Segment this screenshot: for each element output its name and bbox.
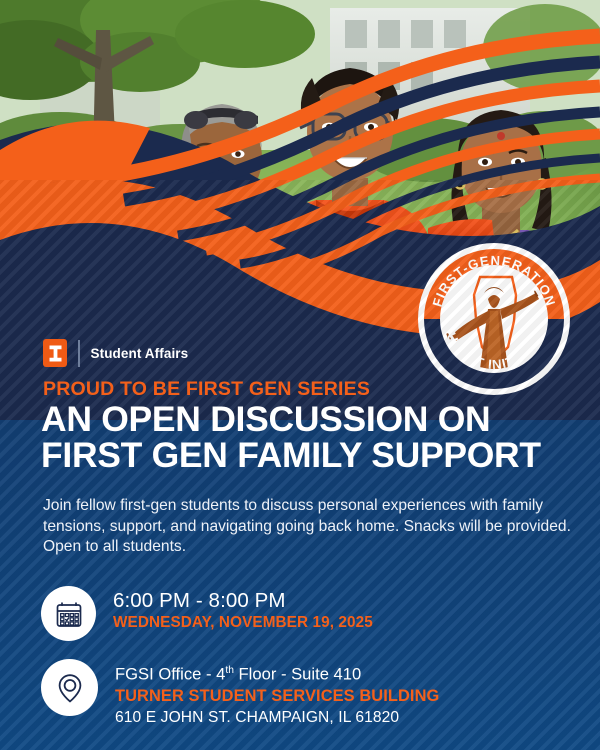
venue-building: TURNER STUDENT SERVICES BUILDING (115, 686, 439, 707)
location-text: FGSI Office - 4th Floor - Suite 410 TURN… (115, 659, 439, 728)
venue-address: 610 E JOHN ST. CHAMPAIGN, IL 61820 (115, 707, 439, 728)
location-row: FGSI Office - 4th Floor - Suite 410 TURN… (41, 659, 439, 728)
unit-name: Student Affairs (91, 346, 189, 361)
content-layer: Student Affairs PROUD TO BE FIRST GEN SE… (0, 0, 600, 750)
venue-room-suffix: Floor - Suite 410 (234, 665, 361, 684)
map-pin-icon (41, 659, 98, 716)
calendar-icon (41, 586, 96, 641)
unit-mark-divider (78, 340, 80, 367)
flyer-poster: ILLINOIS (0, 0, 600, 750)
headline-line-2: FIRST GEN FAMILY SUPPORT (41, 437, 571, 473)
venue-room-ordinal: th (225, 665, 234, 676)
venue-room-prefix: FGSI Office - 4 (115, 665, 225, 684)
unit-mark: Student Affairs (43, 339, 188, 367)
venue-room: FGSI Office - 4th Floor - Suite 410 (115, 660, 439, 686)
date-time-text: 6:00 PM - 8:00 PM WEDNESDAY, NOVEMBER 19… (113, 586, 373, 633)
event-time: 6:00 PM - 8:00 PM (113, 588, 373, 613)
series-eyebrow: PROUD TO BE FIRST GEN SERIES (43, 378, 370, 401)
date-time-row: 6:00 PM - 8:00 PM WEDNESDAY, NOVEMBER 19… (41, 586, 373, 641)
event-date: WEDNESDAY, NOVEMBER 19, 2025 (113, 613, 373, 633)
illinois-block-i-icon (43, 339, 67, 367)
headline-line-1: AN OPEN DISCUSSION ON (41, 401, 571, 437)
page-title: AN OPEN DISCUSSION ON FIRST GEN FAMILY S… (41, 401, 571, 473)
description-text: Join fellow first-gen students to discus… (43, 496, 571, 558)
